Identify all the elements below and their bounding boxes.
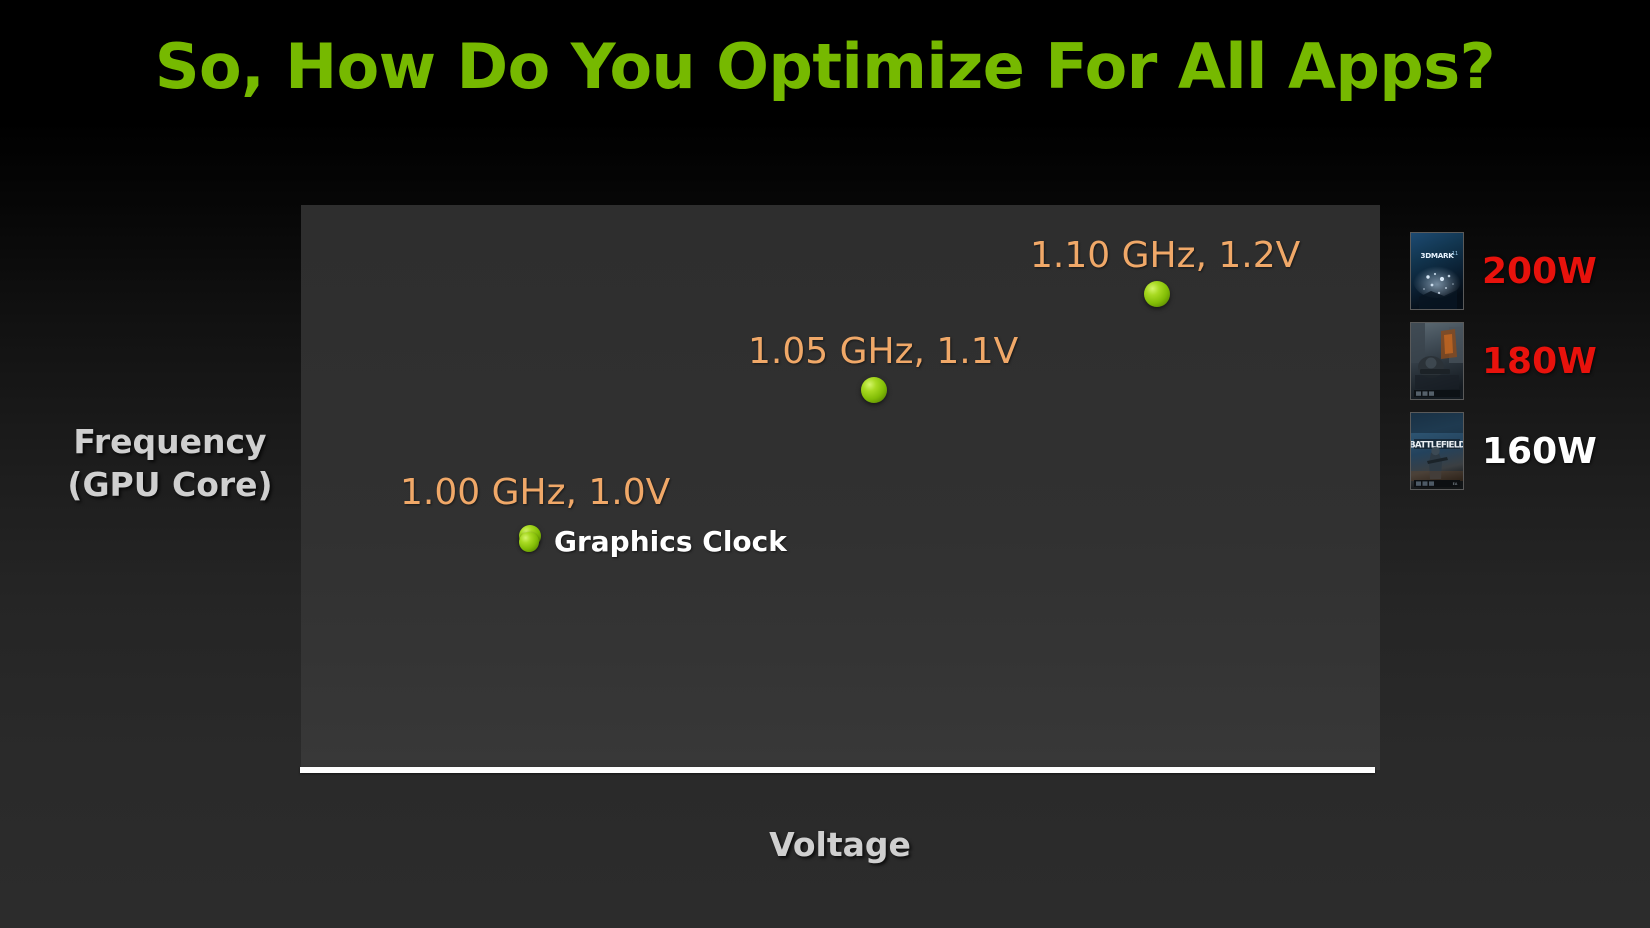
series-legend-dot-icon [519,532,539,552]
y-axis-title: Frequency (GPU Core) [55,420,285,506]
x-axis-line [300,767,1375,773]
app-power-row[interactable]: BATTLEFIELD EA 160W [1410,412,1597,490]
y-axis-title-line2: (GPU Core) [55,463,285,506]
app-power-list: 3DMARK 11 200W [1410,232,1597,490]
data-point-label-3: 1.10 GHz, 1.2V [1030,235,1300,276]
power-value-200w: 200W [1482,251,1597,292]
app-power-row[interactable]: 180W [1410,322,1597,400]
x-axis-title: Voltage [640,825,1040,864]
data-point-marker-3[interactable] [1144,281,1170,307]
data-point-label-1: 1.00 GHz, 1.0V [400,472,670,513]
data-point-label-2: 1.05 GHz, 1.1V [748,331,1018,372]
svg-text:3DMARK: 3DMARK [1421,251,1455,260]
svg-text:EA: EA [1453,482,1458,486]
slide-canvas: So, How Do You Optimize For All Apps? Fr… [0,0,1650,928]
series-legend: Graphics Clock [519,525,787,558]
power-value-180w: 180W [1482,341,1597,382]
app-power-row[interactable]: 3DMARK 11 200W [1410,232,1597,310]
slide-title: So, How Do You Optimize For All Apps? [0,30,1650,103]
data-point-marker-2[interactable] [861,377,887,403]
battlefield-3-boxart-thumbnail: BATTLEFIELD EA [1410,412,1464,490]
y-axis-title-line1: Frequency [73,422,266,461]
series-legend-label: Graphics Clock [554,525,787,558]
crysis-2-boxart-thumbnail [1410,322,1464,400]
svg-text:11: 11 [1452,251,1458,257]
3dmark-11-boxart-thumbnail: 3DMARK 11 [1410,232,1464,310]
power-value-160w: 160W [1482,431,1597,472]
